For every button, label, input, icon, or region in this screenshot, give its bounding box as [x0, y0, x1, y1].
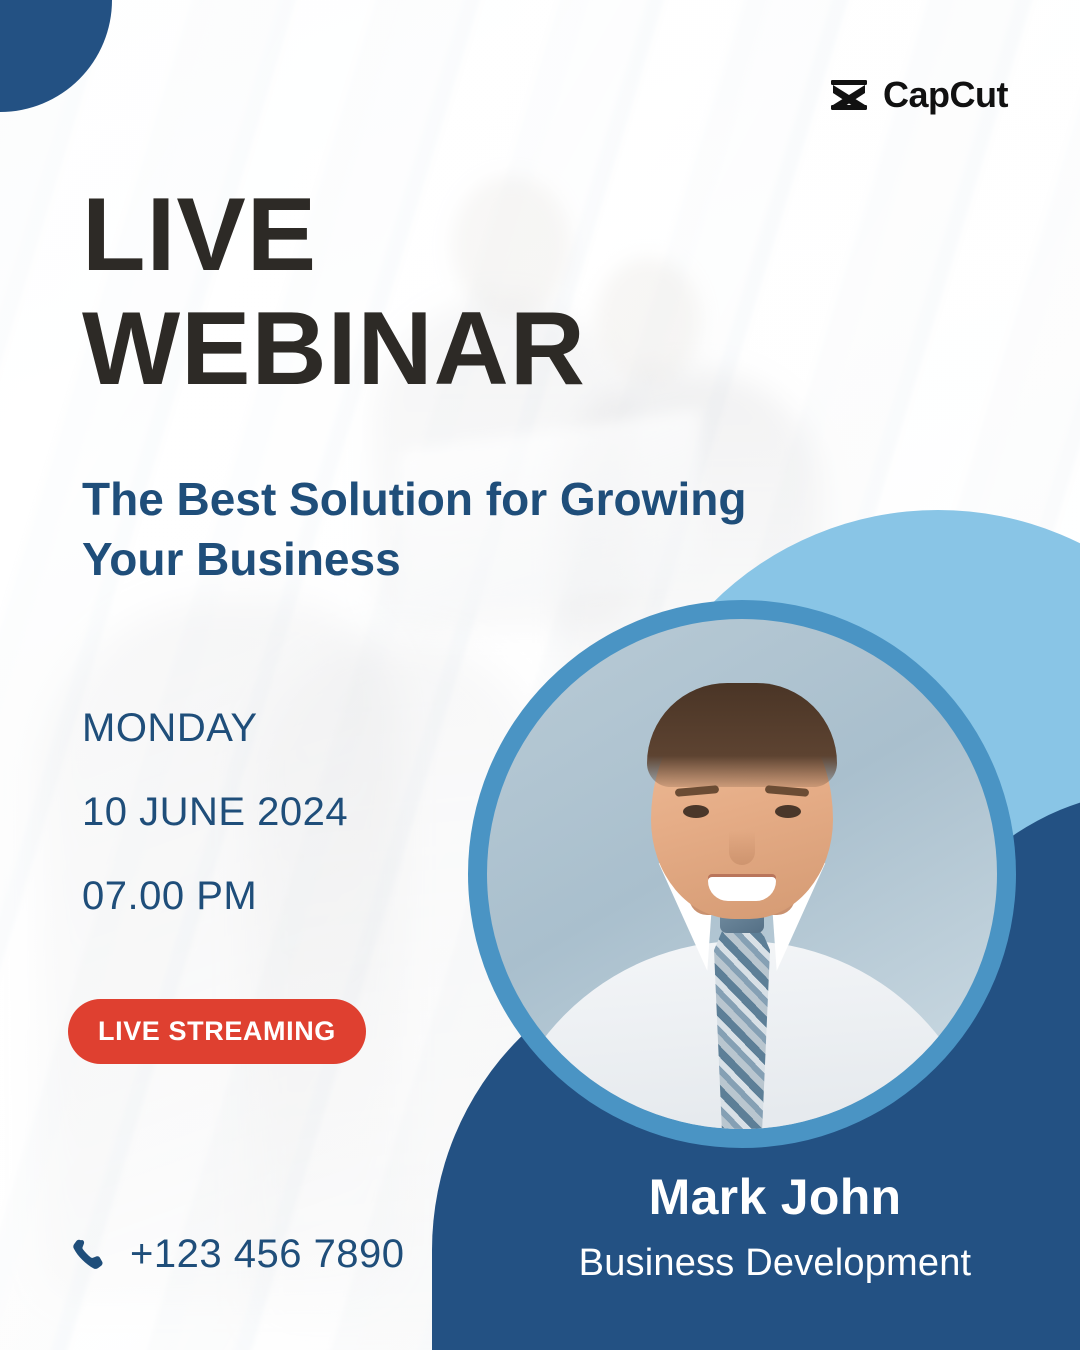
- live-streaming-badge[interactable]: LIVE STREAMING: [68, 999, 366, 1064]
- headline-line-2: WEBINAR: [82, 292, 586, 406]
- phone-number: +123 456 7890: [130, 1232, 405, 1277]
- portrait-nose: [729, 831, 755, 865]
- event-date: 10 JUNE 2024: [82, 792, 348, 832]
- page-subtitle: The Best Solution for Growing Your Busin…: [82, 470, 842, 590]
- event-time: 07.00 PM: [82, 876, 348, 916]
- page-title: LIVE WEBINAR: [82, 178, 586, 407]
- speaker-portrait-photo: [487, 619, 997, 1129]
- speaker-name: Mark John: [470, 1168, 1080, 1226]
- contact-info[interactable]: +123 456 7890: [70, 1232, 405, 1277]
- capcut-logo-text: CapCut: [883, 74, 1008, 116]
- portrait-eye-left: [683, 805, 709, 818]
- portrait-hair: [647, 683, 837, 787]
- headline-line-1: LIVE: [82, 177, 317, 293]
- portrait-eye-right: [775, 805, 801, 818]
- speaker-portrait-ring: [468, 600, 1016, 1148]
- portrait-necktie: [714, 921, 770, 1129]
- speaker-info: Mark John Business Development: [470, 1168, 1080, 1285]
- speaker-role: Business Development: [470, 1242, 1080, 1285]
- capcut-logo: CapCut: [829, 74, 1008, 116]
- portrait-smile: [708, 877, 776, 901]
- capcut-logo-icon: [829, 79, 869, 111]
- event-day: MONDAY: [82, 708, 348, 748]
- phone-icon: [70, 1236, 108, 1274]
- webinar-poster: CapCut LIVE WEBINAR The Best Solution fo…: [0, 0, 1080, 1350]
- event-schedule: MONDAY 10 JUNE 2024 07.00 PM: [82, 708, 348, 916]
